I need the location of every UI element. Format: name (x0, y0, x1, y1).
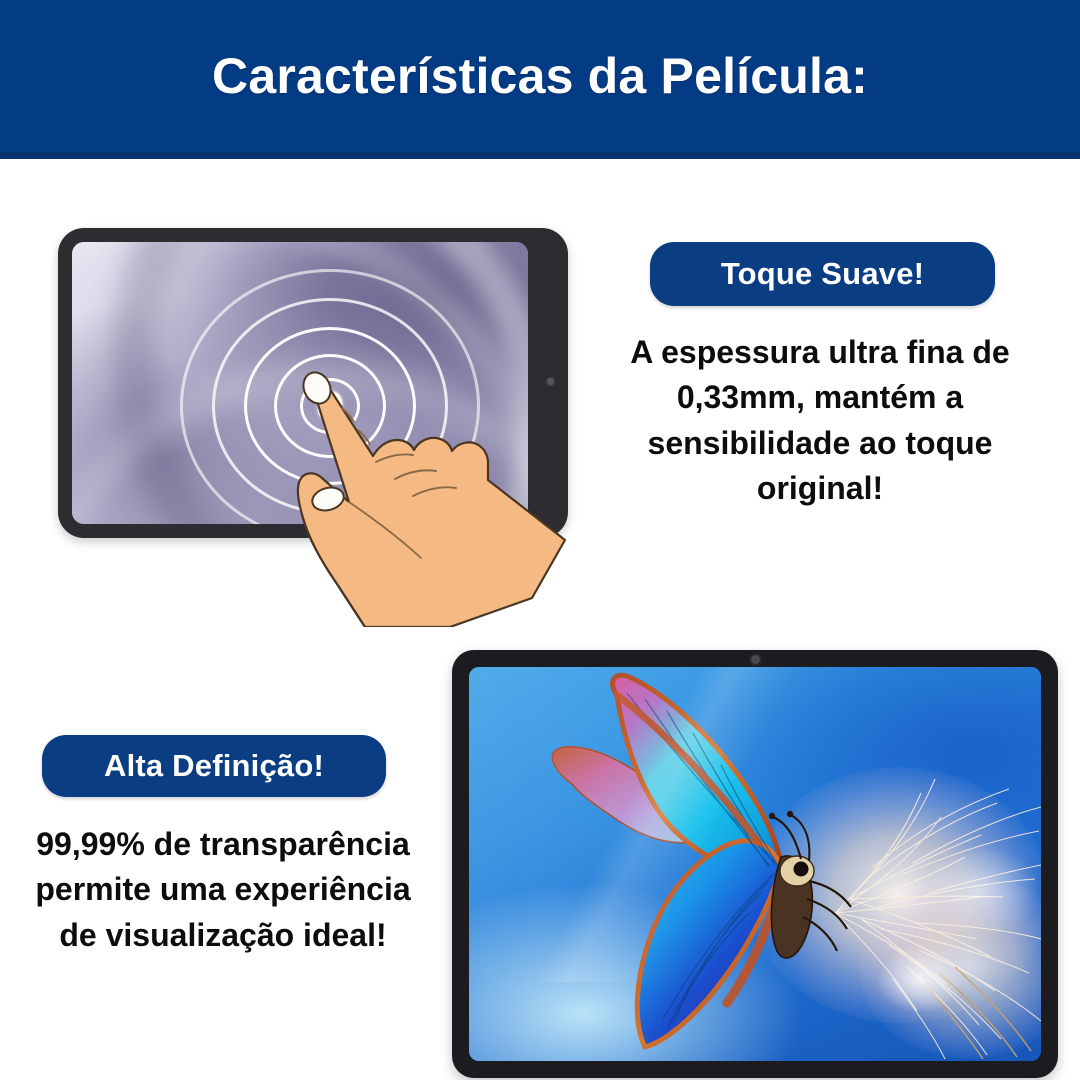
tablet-touch-demo (58, 228, 568, 538)
header-divider (0, 152, 1080, 159)
badge-toque-suave[interactable]: Toque Suave! (650, 242, 995, 306)
tablet-butterfly-screen (469, 667, 1041, 1061)
feature-alta-definicao-description: 99,99% de transparência permite uma expe… (28, 822, 418, 958)
product-feature-page: Características da Película: (0, 0, 1080, 1080)
tablet-camera-icon (547, 378, 554, 385)
badge-toque-suave-label: Toque Suave! (721, 256, 924, 292)
tablet-butterfly-display (452, 650, 1058, 1078)
tablet-front-camera-icon (751, 655, 760, 664)
page-title: Características da Película: (212, 50, 868, 103)
tablet-touch-screen (72, 242, 528, 524)
badge-alta-definicao[interactable]: Alta Definição! (42, 735, 386, 797)
page-header: Características da Película: (0, 0, 1080, 152)
screen-glare (469, 667, 940, 1061)
badge-alta-definicao-label: Alta Definição! (104, 748, 324, 784)
feature-toque-suave-description: A espessura ultra fina de 0,33mm, mantém… (600, 330, 1040, 512)
